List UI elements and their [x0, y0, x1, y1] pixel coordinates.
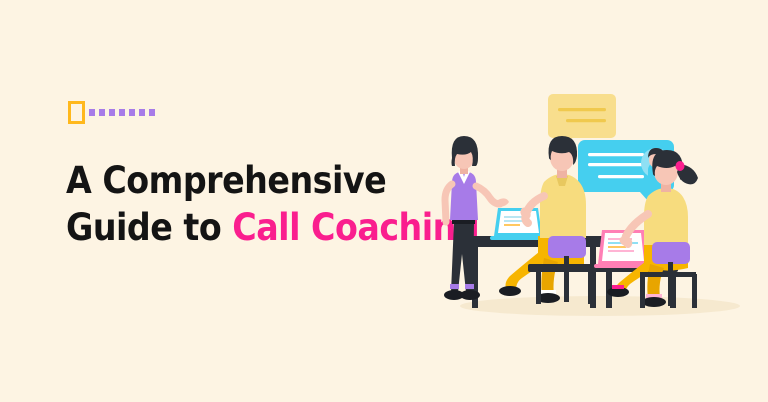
- dot-icon: [109, 109, 115, 116]
- dot-icon: [129, 109, 135, 116]
- title-line-2: Guide to Call Coaching: [66, 204, 466, 251]
- shoe-icon: [460, 290, 480, 300]
- dot-icon: [149, 109, 155, 116]
- dot-icon: [119, 109, 125, 116]
- dot-icon: [99, 109, 105, 116]
- laptop-left-icon: [490, 208, 546, 240]
- call-coaching-illustration: [432, 78, 762, 328]
- purple-dot-row: [89, 109, 155, 116]
- hair-tie-icon: [676, 161, 685, 171]
- title-line-2-plain: Guide to: [66, 206, 232, 249]
- ground-shadow-icon: [460, 296, 740, 316]
- decorative-marker: [68, 101, 155, 124]
- shoe-icon: [499, 286, 521, 296]
- dot-icon: [89, 109, 95, 116]
- dot-icon: [139, 109, 145, 116]
- orange-square-outline-icon: [68, 101, 85, 124]
- title-line-1: A Comprehensive: [66, 157, 466, 204]
- banner-canvas: A Comprehensive Guide to Call Coaching: [0, 0, 768, 402]
- shoe-icon: [642, 297, 666, 307]
- page-title: A Comprehensive Guide to Call Coaching: [66, 157, 466, 251]
